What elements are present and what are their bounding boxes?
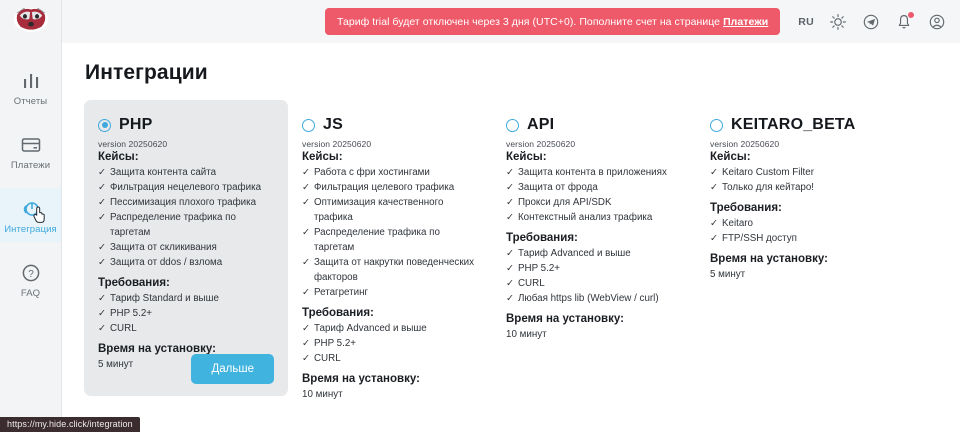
feature-list-item: ✓Любая https lib (WebView / curl) <box>506 291 682 306</box>
feature-list-item: ✓Распределение трафика по таргетам <box>98 210 274 240</box>
cases-section-title: Кейсы: <box>710 151 886 163</box>
feature-list-item: ✓CURL <box>98 321 274 336</box>
check-icon: ✓ <box>98 195 106 210</box>
sidebar-item-label: Интеграция <box>4 224 57 235</box>
check-icon: ✓ <box>302 351 310 366</box>
feature-list-item-label: CURL <box>110 321 137 336</box>
card-version: version 20250620 <box>302 139 478 149</box>
integration-radio[interactable] <box>98 119 111 132</box>
feature-list-item-label: Защита от скликивания <box>110 240 217 255</box>
check-icon: ✓ <box>98 291 106 306</box>
card-title: PHP <box>119 116 153 134</box>
feature-list-item-label: Распределение трафика по таргетам <box>314 225 478 255</box>
check-icon: ✓ <box>302 321 310 336</box>
check-icon: ✓ <box>302 225 310 240</box>
feature-list-item: ✓Пессимизация плохого трафика <box>98 195 274 210</box>
feature-list-item-label: Фильтрация целевого трафика <box>314 180 454 195</box>
feature-list-item: ✓Фильтрация целевого трафика <box>302 180 478 195</box>
telegram-icon[interactable] <box>862 13 880 31</box>
user-account-icon[interactable] <box>928 13 946 31</box>
integration-card[interactable]: APIversion 20250620Кейсы:✓Защита контент… <box>492 100 696 396</box>
check-icon: ✓ <box>506 195 514 210</box>
feature-list-item-label: Защита контента в приложениях <box>518 165 667 180</box>
integration-card-list: PHPversion 20250620Кейсы:✓Защита контент… <box>84 100 938 412</box>
card-title: JS <box>323 116 343 134</box>
feature-list-item: ✓Защита от ddos / взлома <box>98 255 274 270</box>
cases-section-title: Кейсы: <box>302 151 478 163</box>
check-icon: ✓ <box>506 276 514 291</box>
install-time-value: 10 минут <box>506 327 682 342</box>
card-title: KEITARO_BETA <box>731 116 855 134</box>
card-version: version 20250620 <box>710 139 886 149</box>
check-icon: ✓ <box>302 255 310 270</box>
feature-list-item: ✓PHP 5.2+ <box>506 261 682 276</box>
feature-list-item: ✓Работа с фри хостингами <box>302 165 478 180</box>
question-circle-icon: ? <box>19 261 43 285</box>
main-content: Интеграции PHPversion 20250620Кейсы:✓Защ… <box>62 43 960 432</box>
feature-list-item-label: Пессимизация плохого трафика <box>110 195 256 210</box>
feature-list-item-label: Защита от накрутки поведенческих факторо… <box>314 255 478 285</box>
feature-list-item-label: PHP 5.2+ <box>518 261 560 276</box>
feature-list-item: ✓Распределение трафика по таргетам <box>302 225 478 255</box>
cases-section-title: Кейсы: <box>98 151 274 163</box>
integration-radio[interactable] <box>710 119 723 132</box>
bell-icon[interactable] <box>895 13 913 31</box>
check-icon: ✓ <box>506 291 514 306</box>
check-icon: ✓ <box>506 180 514 195</box>
integration-card[interactable]: PHPversion 20250620Кейсы:✓Защита контент… <box>84 100 288 396</box>
feature-list-item: ✓Keitaro <box>710 216 886 231</box>
check-icon: ✓ <box>98 255 106 270</box>
check-icon: ✓ <box>506 246 514 261</box>
feature-list-item: ✓CURL <box>506 276 682 291</box>
integration-radio[interactable] <box>506 119 519 132</box>
check-icon: ✓ <box>98 321 106 336</box>
feature-list-item: ✓Тариф Advanced и выше <box>506 246 682 261</box>
sidebar-item-platezhi[interactable]: Платежи <box>0 124 61 178</box>
feature-list-item: ✓Оптимизация качественного трафика <box>302 195 478 225</box>
check-icon: ✓ <box>302 165 310 180</box>
raccoon-logo[interactable] <box>0 0 62 38</box>
feature-list-item: ✓Защита от фрода <box>506 180 682 195</box>
sidebar-item-otchety[interactable]: Отчеты <box>0 60 61 114</box>
install-time-value: 5 минут <box>710 267 886 282</box>
check-icon: ✓ <box>302 195 310 210</box>
feature-list-item-label: Защита от ddos / взлома <box>110 255 222 270</box>
feature-list-item-label: Keitaro <box>722 216 753 231</box>
install-time-section-title: Время на установку: <box>506 313 682 325</box>
app-window: Отчеты Платежи Интеграция <box>0 0 960 432</box>
card-header: API <box>506 116 682 134</box>
feature-list-item: ✓Тариф Advanced и выше <box>302 321 478 336</box>
feature-list-item: ✓PHP 5.2+ <box>98 306 274 321</box>
feature-list-item: ✓Keitaro Custom Filter <box>710 165 886 180</box>
requirements-section-title: Требования: <box>98 277 274 289</box>
feature-list-item-label: Распределение трафика по таргетам <box>110 210 274 240</box>
cases-section-title: Кейсы: <box>506 151 682 163</box>
check-icon: ✓ <box>710 180 718 195</box>
feature-list-item-label: Защита от фрода <box>518 180 598 195</box>
trial-warning-banner: Тариф trial будет отключен через 3 дня (… <box>325 8 780 35</box>
feature-list-item-label: CURL <box>518 276 545 291</box>
card-title: API <box>527 116 554 134</box>
feature-list-item-label: Оптимизация качественного трафика <box>314 195 478 225</box>
check-icon: ✓ <box>302 285 310 300</box>
requirements-section-title: Требования: <box>710 202 886 214</box>
feature-list-item-label: Любая https lib (WebView / curl) <box>518 291 659 306</box>
requirements-section-title: Требования: <box>506 232 682 244</box>
check-icon: ✓ <box>506 210 514 225</box>
sidebar-item-integraciya[interactable]: Интеграция <box>0 188 61 242</box>
feature-list-item-label: FTP/SSH доступ <box>722 231 797 246</box>
integration-card[interactable]: JSversion 20250620Кейсы:✓Работа с фри хо… <box>288 100 492 412</box>
page-title: Интеграции <box>85 61 938 85</box>
sidebar-item-faq[interactable]: ? FAQ <box>0 252 61 306</box>
svg-text:?: ? <box>28 269 34 280</box>
sidebar-nav: Отчеты Платежи Интеграция <box>0 60 61 316</box>
card-version: version 20250620 <box>506 139 682 149</box>
bar-chart-icon <box>19 69 43 93</box>
raccoon-logo-icon <box>12 4 50 34</box>
next-button[interactable]: Дальше <box>191 354 274 384</box>
card-header: KEITARO_BETA <box>710 116 886 134</box>
feature-list-item: ✓Только для кейтаро! <box>710 180 886 195</box>
check-icon: ✓ <box>302 336 310 351</box>
install-time-section-title: Время на установку: <box>710 253 886 265</box>
install-time-value: 10 минут <box>302 387 478 402</box>
check-icon: ✓ <box>710 231 718 246</box>
language-switcher[interactable]: RU <box>798 16 814 28</box>
check-icon: ✓ <box>98 210 106 225</box>
check-icon: ✓ <box>506 261 514 276</box>
feature-list-item: ✓Прокси для API/SDK <box>506 195 682 210</box>
sidebar-item-label: FAQ <box>21 288 40 299</box>
card-version: version 20250620 <box>98 139 274 149</box>
check-icon: ✓ <box>302 180 310 195</box>
feature-list-item-label: Фильтрация нецелевого трафика <box>110 180 261 195</box>
check-icon: ✓ <box>98 306 106 321</box>
feature-list-item: ✓Тариф Standard и выше <box>98 291 274 306</box>
feature-list-item-label: Ретагретинг <box>314 285 368 300</box>
integration-radio[interactable] <box>302 119 315 132</box>
notification-badge <box>907 11 915 19</box>
feature-list-item: ✓FTP/SSH доступ <box>710 231 886 246</box>
feature-list-item: ✓CURL <box>302 351 478 366</box>
feature-list-item: ✓Ретагретинг <box>302 285 478 300</box>
feature-list-item-label: Тариф Standard и выше <box>110 291 219 306</box>
banner-text: Тариф trial будет отключен через 3 дня (… <box>337 16 720 28</box>
radio-dot <box>102 122 108 128</box>
requirements-section-title: Требования: <box>302 307 478 319</box>
feature-list-item: ✓Защита контента в приложениях <box>506 165 682 180</box>
feature-list-item: ✓PHP 5.2+ <box>302 336 478 351</box>
feature-list-item-label: Контекстный анализ трафика <box>518 210 652 225</box>
sidebar-item-label: Отчеты <box>14 96 47 107</box>
check-icon: ✓ <box>98 165 106 180</box>
feature-list-item: ✓Защита от скликивания <box>98 240 274 255</box>
feature-list-item-label: Работа с фри хостингами <box>314 165 430 180</box>
banner-payments-link[interactable]: Платежи <box>723 16 768 28</box>
install-time-section-title: Время на установку: <box>302 373 478 385</box>
feature-list-item-label: Защита контента сайта <box>110 165 216 180</box>
top-header: Тариф trial будет отключен через 3 дня (… <box>62 0 960 43</box>
sidebar-item-label: Платежи <box>11 160 50 171</box>
card-header: JS <box>302 116 478 134</box>
feature-list-item: ✓Защита от накрутки поведенческих фактор… <box>302 255 478 285</box>
feature-list-item-label: Тариф Advanced и выше <box>518 246 631 261</box>
check-icon: ✓ <box>710 165 718 180</box>
check-icon: ✓ <box>710 216 718 231</box>
sidebar: Отчеты Платежи Интеграция <box>0 0 62 432</box>
integration-icon <box>19 197 43 221</box>
card-header: PHP <box>98 116 274 134</box>
feature-list-item-label: Тариф Advanced и выше <box>314 321 427 336</box>
feature-list-item-label: PHP 5.2+ <box>314 336 356 351</box>
feature-list-item-label: Прокси для API/SDK <box>518 195 612 210</box>
check-icon: ✓ <box>506 165 514 180</box>
integration-card[interactable]: KEITARO_BETAversion 20250620Кейсы:✓Keita… <box>696 100 900 396</box>
check-icon: ✓ <box>98 240 106 255</box>
feature-list-item-label: Keitaro Custom Filter <box>722 165 814 180</box>
feature-list-item: ✓Фильтрация нецелевого трафика <box>98 180 274 195</box>
header-icon-group: RU <box>798 13 946 31</box>
feature-list-item: ✓Контекстный анализ трафика <box>506 210 682 225</box>
check-icon: ✓ <box>98 180 106 195</box>
feature-list-item: ✓Защита контента сайта <box>98 165 274 180</box>
credit-card-icon <box>19 133 43 157</box>
sun-icon[interactable] <box>829 13 847 31</box>
feature-list-item-label: CURL <box>314 351 341 366</box>
feature-list-item-label: PHP 5.2+ <box>110 306 152 321</box>
feature-list-item-label: Только для кейтаро! <box>722 180 814 195</box>
status-bar-url: https://my.hide.click/integration <box>0 417 140 432</box>
